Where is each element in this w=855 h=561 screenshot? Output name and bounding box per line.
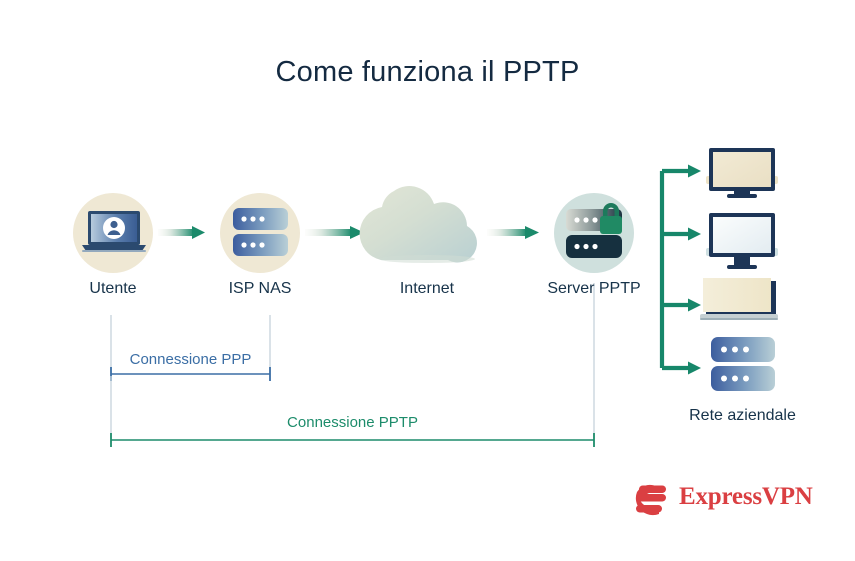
server-icon-corporate <box>711 337 775 391</box>
server-lock-icon <box>566 203 622 258</box>
node-label-internet: Internet <box>367 280 487 298</box>
desktop-monitor-icon-2 <box>706 213 778 269</box>
arrow-isp-internet <box>305 226 364 239</box>
cloud-icon <box>360 186 477 263</box>
laptop-icon <box>700 278 778 320</box>
node-label-isp: ISP NAS <box>200 280 320 298</box>
corporate-network-arrowheads <box>688 165 701 375</box>
arrow-user-isp <box>158 226 205 239</box>
node-label-user: Utente <box>53 280 173 298</box>
desktop-monitor-icon-1 <box>706 148 778 198</box>
measure-ppp <box>111 315 270 381</box>
node-label-pptp: Server PPTP <box>524 280 664 298</box>
expressvpn-wordmark: ExpressVPN <box>679 483 813 511</box>
expressvpn-logo[interactable]: ExpressVPN <box>630 483 813 511</box>
corporate-network-label: Rete aziendale <box>660 407 825 425</box>
arrow-internet-pptp <box>487 226 539 239</box>
node-circle-pptp <box>554 193 634 273</box>
corporate-network-bracket <box>662 171 690 368</box>
diagram-canvas: Come funziona il PPTP <box>0 0 855 561</box>
measure-label-pptp: Connessione PPTP <box>111 414 594 431</box>
laptop-user-icon <box>82 211 146 252</box>
measure-label-ppp: Connessione PPP <box>111 351 270 368</box>
node-circle-isp <box>220 193 300 273</box>
